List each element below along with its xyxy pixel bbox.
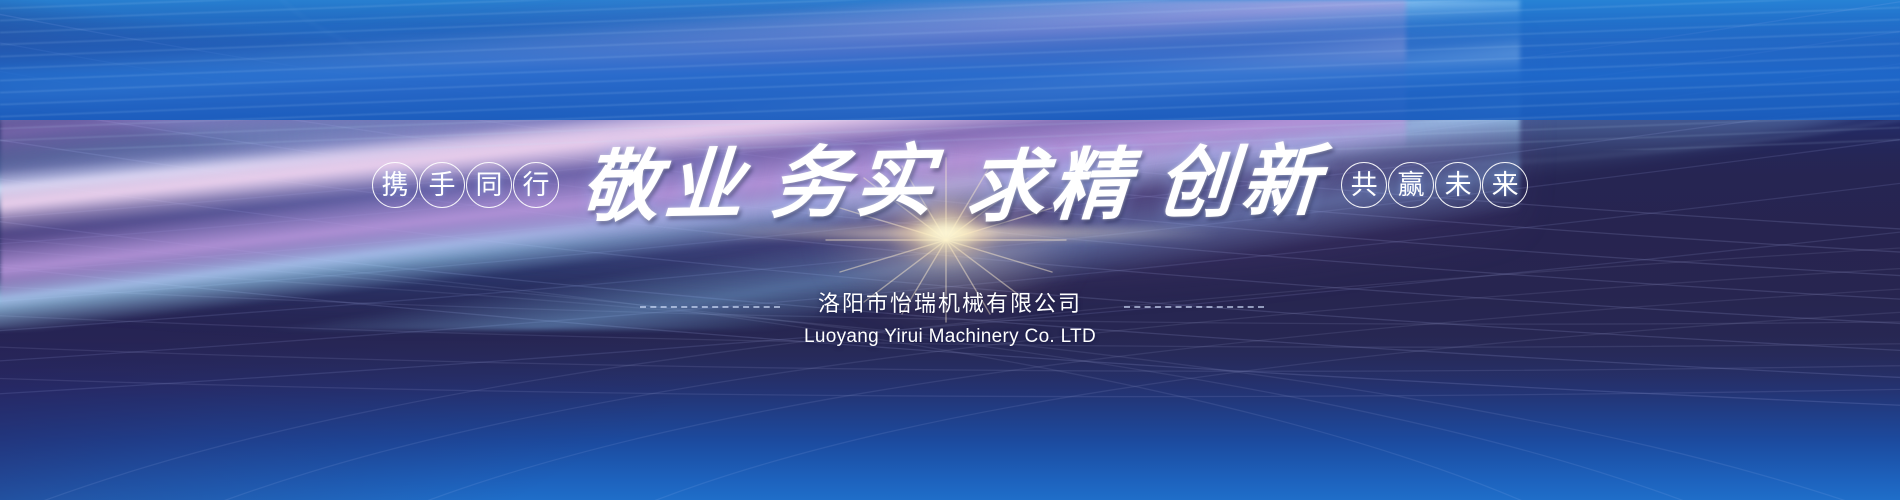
calligraphy-word-jingye: 敬业 <box>578 146 748 227</box>
circled-chars-left: 携 手 同 行 <box>372 162 559 208</box>
dashed-rule-right <box>1124 306 1264 308</box>
circled-char-5: 赢 <box>1388 162 1434 208</box>
calligraphy-char-shi: 实 <box>852 143 937 223</box>
calligraphy-char-qiu: 求 <box>964 148 1049 228</box>
calligraphy-char-ye: 业 <box>662 146 747 226</box>
calligraphy-word-chuangxin: 创新 <box>1154 143 1324 224</box>
calligraphy-char-jing: 敬 <box>578 148 663 228</box>
circled-char-1: 手 <box>419 162 465 208</box>
calligraphy-char-jing2: 精 <box>1048 146 1133 226</box>
calligraphy-right: 求精 创新 <box>964 143 1324 228</box>
circled-char-4: 共 <box>1341 162 1387 208</box>
company-name-cn: 洛阳市怡瑞机械有限公司 <box>818 290 1082 320</box>
calligraphy-char-wu: 务 <box>768 144 853 224</box>
circled-char-6: 未 <box>1435 162 1481 208</box>
slogan-row: 携 手 同 行 敬业 务实 求精 创新 <box>0 130 1900 240</box>
circled-char-7: 来 <box>1482 162 1528 208</box>
calligraphy-word-qiujing: 求精 <box>964 146 1134 227</box>
calligraphy-left: 敬业 务实 <box>578 143 938 228</box>
banner-content: 携 手 同 行 敬业 务实 求精 创新 <box>0 0 1900 500</box>
circled-chars-right: 共 赢 未 来 <box>1341 162 1528 208</box>
circled-char-0: 携 <box>372 162 418 208</box>
calligraphy-word-wushi: 务实 <box>768 143 938 224</box>
company-name-en: Luoyang Yirui Machinery Co. LTD <box>804 324 1096 350</box>
circled-char-2: 同 <box>466 162 512 208</box>
circled-char-3: 行 <box>513 162 559 208</box>
hero-banner: 携 手 同 行 敬业 务实 求精 创新 <box>0 0 1900 500</box>
calligraphy-char-chuang: 创 <box>1154 144 1239 224</box>
dashed-rule-left <box>640 306 780 308</box>
calligraphy-char-xin: 新 <box>1239 143 1324 223</box>
company-name-block: 洛阳市怡瑞机械有限公司 Luoyang Yirui Machinery Co. … <box>0 290 1900 349</box>
